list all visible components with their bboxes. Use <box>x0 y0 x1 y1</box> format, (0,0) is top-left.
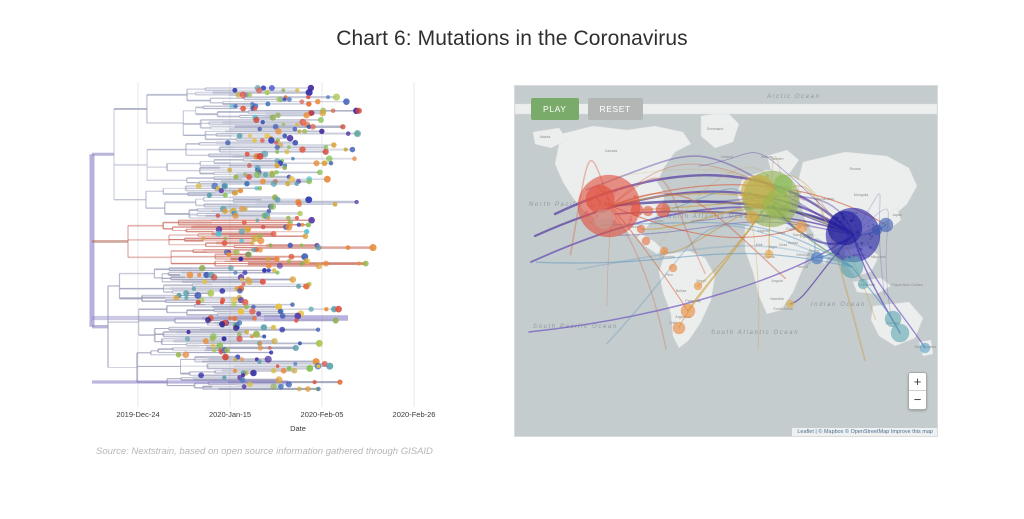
geo-label: Papua New Guinea <box>891 283 922 287</box>
tree-branches <box>92 88 373 389</box>
ocean-label: South Pacific Ocean <box>533 324 618 330</box>
region-marker[interactable] <box>891 324 909 342</box>
x-axis-tick: 2020-Jan-15 <box>209 410 251 419</box>
region-marker[interactable] <box>811 252 823 264</box>
geo-label: Japan <box>892 213 902 217</box>
map-attribution[interactable]: Leaflet | © Mapbox © OpenStreetMap Impro… <box>792 428 937 436</box>
region-marker[interactable] <box>656 203 670 217</box>
region-marker[interactable] <box>872 225 882 235</box>
zoom-out-button[interactable]: − <box>909 391 926 409</box>
geo-label: Angola <box>771 279 782 283</box>
transmission-map-panel[interactable]: CanadaGreenlandMexicoCubaColombiaBrazilP… <box>514 85 938 437</box>
play-button[interactable]: PLAY <box>531 98 579 120</box>
x-axis-tick: 2019-Dec-24 <box>116 410 159 419</box>
map-playback-controls: PLAY RESET <box>531 98 643 120</box>
reset-button[interactable]: RESET <box>588 98 643 120</box>
region-marker[interactable] <box>841 256 863 278</box>
geo-label: Canada <box>605 149 618 153</box>
geo-label: Bolivia <box>676 289 687 293</box>
zoom-in-button[interactable]: + <box>909 373 926 391</box>
geo-label: Russia <box>850 167 861 171</box>
region-marker[interactable] <box>594 209 614 229</box>
source-note: Source: Nextstrain, based on open source… <box>96 446 433 457</box>
geo-label: Alaska <box>540 135 551 139</box>
region-marker[interactable] <box>795 221 807 233</box>
x-axis-tick: 2020-Feb-26 <box>393 410 436 419</box>
tree-svg <box>88 82 508 407</box>
region-marker[interactable] <box>643 206 653 216</box>
region-marker[interactable] <box>642 237 650 245</box>
region-marker[interactable] <box>746 211 758 223</box>
region-marker[interactable] <box>681 304 695 318</box>
region-marker[interactable] <box>660 247 668 255</box>
geo-label: Greenland <box>707 127 724 131</box>
region-marker[interactable] <box>920 343 930 353</box>
page-title: Chart 6: Mutations in the Coronavirus <box>0 27 1024 51</box>
region-marker[interactable] <box>786 300 794 308</box>
geo-label: Chad <box>779 243 788 247</box>
ocean-label: Indian Ocean <box>811 302 866 308</box>
x-axis-tick: 2020-Feb-05 <box>301 410 344 419</box>
geo-label: Mongolia <box>854 193 869 197</box>
ocean-label: Arctic Ocean <box>766 94 821 100</box>
ocean-label: South Atlantic Ocean <box>711 330 799 336</box>
region-marker[interactable] <box>673 322 685 334</box>
x-axis-label: Date <box>88 424 508 433</box>
region-marker[interactable] <box>858 279 868 289</box>
region-marker[interactable] <box>694 282 702 290</box>
zoom-control: + − <box>908 372 927 410</box>
slide-canvas: Chart 6: Mutations in the Coronavirus 20… <box>0 0 1024 519</box>
region-marker[interactable] <box>637 225 645 233</box>
geo-label: Namibia <box>770 297 783 301</box>
region-marker[interactable] <box>765 250 773 258</box>
map-svg: CanadaGreenlandMexicoCubaColombiaBrazilP… <box>515 86 937 436</box>
geo-label: Philippines <box>868 255 886 259</box>
region-marker[interactable] <box>669 264 677 272</box>
phylogenetic-tree-panel: 2019-Dec-242020-Jan-152020-Feb-052020-Fe… <box>88 82 508 462</box>
tree-plot-area <box>88 82 508 407</box>
